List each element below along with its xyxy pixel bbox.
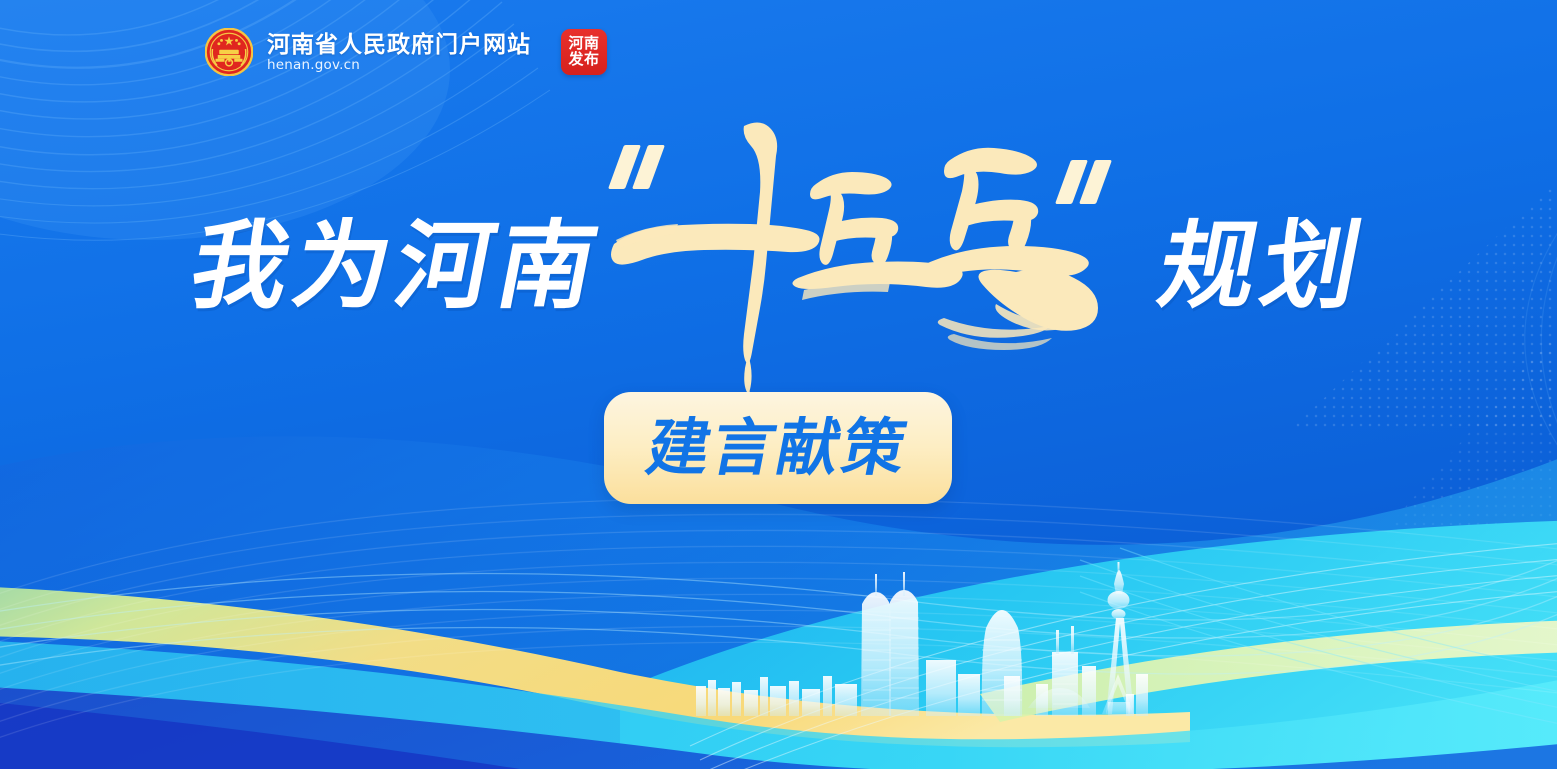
headline-left: 我为河南 <box>183 218 610 314</box>
halftone-dots-pattern <box>1290 180 1557 560</box>
calligraphy-shiwuwu <box>598 112 1118 392</box>
quote-close-icon <box>1063 160 1104 204</box>
henan-release-badge[interactable]: 河南 发布 <box>561 29 607 75</box>
site-domain: henan.gov.cn <box>267 58 531 73</box>
background-decoration <box>0 0 1557 769</box>
headline-right: 规划 <box>1151 218 1374 314</box>
cta-button[interactable]: 建言献策 <box>604 392 952 504</box>
header-text-block: 河南省人民政府门户网站 henan.gov.cn <box>267 31 531 73</box>
wave-gold-left <box>0 586 1190 747</box>
wave-gold-right <box>980 620 1557 722</box>
quote-open-icon <box>616 145 657 189</box>
zhengzhou-skyline <box>690 556 1150 716</box>
wave-navy-corner <box>0 700 520 769</box>
cta-label: 建言献策 <box>642 417 914 479</box>
badge-line2: 发布 <box>568 52 599 68</box>
hero-headline: 我为河南 规划 <box>0 218 1557 314</box>
site-name: 河南省人民政府门户网站 <box>267 31 531 57</box>
wave-deep-front <box>0 686 1557 769</box>
national-emblem-icon <box>205 28 253 76</box>
wave-cyan-mid <box>0 640 1557 769</box>
site-header: 河南省人民政府门户网站 henan.gov.cn 河南 发布 <box>205 28 607 76</box>
promo-banner: 河南省人民政府门户网站 henan.gov.cn 河南 发布 我为河南 规划 <box>0 0 1557 769</box>
wave-cyan-right <box>620 520 1557 769</box>
